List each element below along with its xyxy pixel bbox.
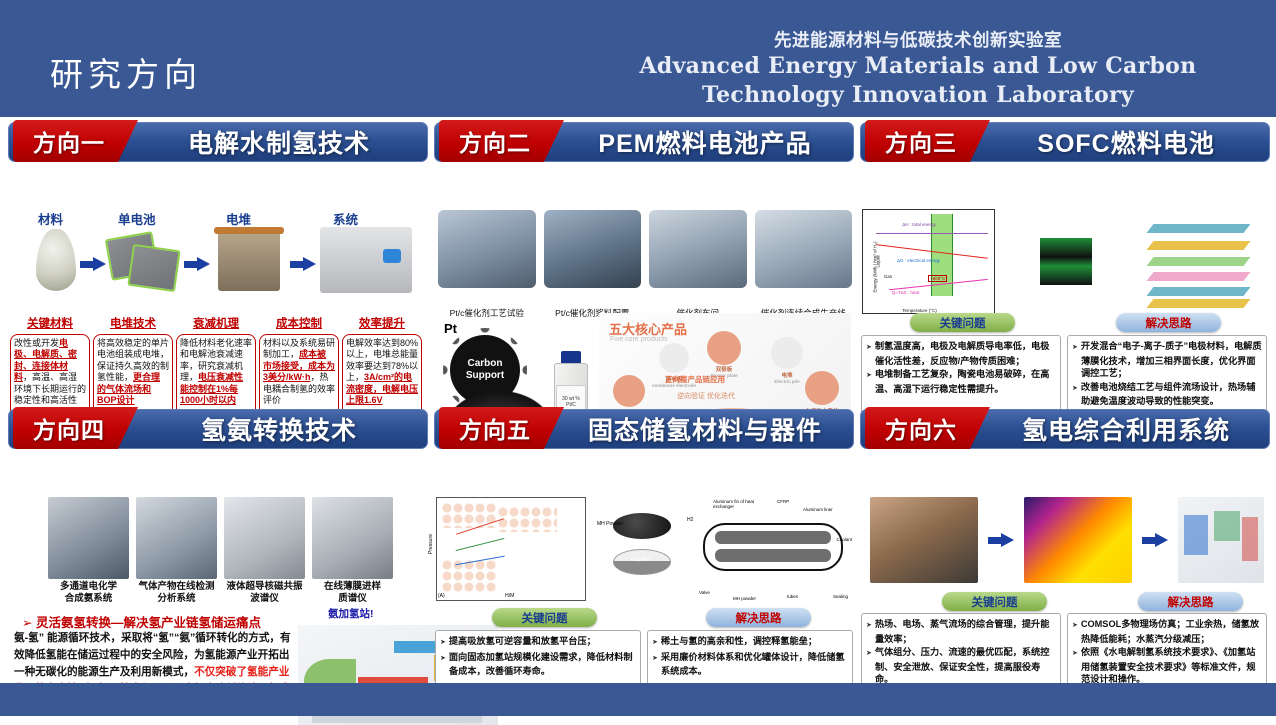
flow-label-material: 材料 <box>38 209 63 228</box>
tag-key-issues: 关键问题 <box>910 313 1015 332</box>
panel-4-headline: ➢ 灵活氨氢转换—解决氢产业链氢储运痛点 <box>22 612 261 631</box>
pct-isotherm-chart: Pressure H/M (A) <box>436 497 586 601</box>
photo-cell <box>438 210 536 306</box>
equipment-photo-row <box>48 497 393 579</box>
lab-photo-1 <box>438 210 536 288</box>
hydrogen-station-label: 氨加氢站! <box>328 606 374 621</box>
product-icon-power-system <box>805 371 839 405</box>
single-cell-plate-image-2 <box>127 244 180 292</box>
column-head: 效率提升 <box>342 315 422 331</box>
flow-arrow-2 <box>184 257 210 272</box>
photo-caption: 液体超导核磁共振 波谱仪 <box>224 581 305 605</box>
label-mh-powder: MH Powder <box>597 521 623 527</box>
sofc-figures: ΔH : total energy ΔG : electrical energy… <box>862 209 1268 314</box>
page-title: 研究方向 <box>50 48 202 96</box>
panel-direction-6: 方向六 氢电综合利用系统 关键问题 解决思路 热场、电场、蒸气流场的综合管理，提… <box>860 407 1270 682</box>
solution-item: 采用廉价材料体系和优化罐体设计，降低储氢系统成本。 <box>652 651 848 678</box>
panel-6-title: 氢电综合利用系统 <box>988 409 1264 449</box>
panel-1-ribbon: 方向一 电解水制氢技术 <box>8 120 428 163</box>
sofc-material-network-figure <box>1001 209 1132 314</box>
stack-layer-cathode <box>1147 241 1251 250</box>
panel-2-title: PEM燃料电池产品 <box>562 122 848 162</box>
network-center-cell <box>1040 238 1092 284</box>
product-icon-membrane <box>659 343 689 373</box>
flow-arrow-2 <box>1142 533 1168 548</box>
text-plain: 改性或开发 <box>14 338 59 348</box>
lab-photo-4 <box>755 210 853 288</box>
product-icon-bipolar <box>707 331 741 365</box>
lattice-atoms-bottomleft <box>441 559 497 593</box>
photo-caption: 气体产物在线检测 分析系统 <box>136 581 217 605</box>
solution-item: 改善电池烧结工艺与组件流场设计，热场辅助避免温度波动导致的性能突变。 <box>1072 381 1262 408</box>
panel-3-ribbon: 方向三 SOFC燃料电池 <box>860 120 1270 163</box>
chart-ylabel: Energy (kWh / Nm³ of H₂) <box>873 223 878 293</box>
panel-6-tags: 关键问题 解决思路 <box>860 592 1270 612</box>
stack-top-bar <box>214 227 284 234</box>
electrolysis-flow-diagram: 材料 单电池 电堆 系统 <box>8 209 428 314</box>
label-h2: H2 <box>687 517 693 523</box>
schematic-block-blue <box>1184 515 1208 555</box>
chart-series-label-Q: Q=TΔS : heat <box>892 290 919 295</box>
equipment-photo-2 <box>136 497 217 579</box>
flow-label-cell: 单电池 <box>118 209 156 228</box>
photo-cell <box>544 210 642 306</box>
solution-item: 稀土与氢的高亲和性，调控释氢能垒； <box>652 635 848 650</box>
stack-layer-interconnect-bottom <box>1147 287 1251 296</box>
pt-label: Pt <box>444 321 457 336</box>
panel-3-title: SOFC燃料电池 <box>988 122 1264 162</box>
thermal-imaging-photo <box>1024 497 1132 583</box>
stack-layer-electrolyte <box>1147 257 1251 266</box>
flow-arrow-1 <box>988 533 1014 548</box>
tag-solutions: 解决思路 <box>1116 313 1221 332</box>
panel-5-tags: 关键问题 解决思路 <box>434 608 854 628</box>
panel-4-ribbon: 方向四 氢氨转换技术 <box>8 407 428 450</box>
label-cfrp: CFRP <box>777 499 789 504</box>
flow-arrow-3 <box>290 257 316 272</box>
label-aluminum-liner: Aluminum liner <box>803 507 833 512</box>
label-gap-mh: Gap MH <box>631 557 650 563</box>
issue-item: 面向固态加氢站规模化建设需求，降低材料制备成本，改善循环寿命。 <box>440 651 636 678</box>
label-tubes: tubes <box>787 594 798 599</box>
label-coolant: Coolant <box>836 537 852 542</box>
equipment-photo-1 <box>48 497 129 579</box>
panel-direction-4: 方向四 氢氨转换技术 多通道电化学 合成氨系统 气体产物在线检测 分析系统 液体… <box>8 407 428 682</box>
chart-annotation-temp: ≈800°C <box>928 275 947 282</box>
panel-6-badge: 方向六 <box>865 407 977 449</box>
column-head: 成本控制 <box>259 315 339 331</box>
tank-tube-2 <box>715 549 831 562</box>
lattice-atoms-topright <box>497 506 557 532</box>
panel-3-badge: 方向三 <box>865 120 977 162</box>
stack-layer-interconnect-top <box>1147 224 1251 233</box>
photo-cell <box>755 210 853 306</box>
photo-cell <box>649 210 747 306</box>
flow-label-system: 系统 <box>333 209 358 228</box>
panel-2-ribbon: 方向二 PEM燃料电池产品 <box>434 120 854 163</box>
flow-arrow-1 <box>80 257 106 272</box>
sofc-energy-chart: ΔH : total energy ΔG : electrical energy… <box>862 209 995 314</box>
product-mid-label-1: 正向整产品链应用 <box>665 374 725 385</box>
slide-footer <box>0 683 1276 716</box>
figure-label-a: (A) <box>438 593 445 599</box>
electrolyzer-stack-image <box>218 231 280 291</box>
schematic-block-green <box>1214 511 1240 541</box>
slide-header: 研究方向 先进能源材料与低碳技术创新实验室 Advanced Energy Ma… <box>0 0 1276 117</box>
tag-key-issues: 关键问题 <box>492 608 597 627</box>
stack-layer-anode <box>1147 272 1251 281</box>
panel-1-badge: 方向一 <box>13 120 125 162</box>
column-head: 关键材料 <box>10 315 90 331</box>
lab-photo-2 <box>544 210 642 288</box>
lab-name-block: 先进能源材料与低碳技术创新实验室 Advanced Energy Materia… <box>598 28 1238 110</box>
tag-key-issues: 关键问题 <box>942 592 1047 611</box>
label-mh-powder-2: MH powder <box>733 596 756 601</box>
solution-item: 开发混合“电子-离子-质子”电极材料，电解质薄膜化技术，增加三相界面长度，优化界… <box>1072 340 1262 380</box>
tank-tube-1 <box>715 531 831 544</box>
label-en: Electric pile <box>765 379 809 384</box>
column-head: 衰减机理 <box>176 315 256 331</box>
photo-caption: 多通道电化学 合成氨系统 <box>48 581 129 605</box>
lab-name-en-line1: Advanced Energy Materials and Low Carbon <box>598 52 1238 81</box>
chart-series-label-dG: ΔG : electrical energy <box>897 258 940 263</box>
text-plain-2: ，高温、高湿环境下长期运行的稳定性和高活性 <box>14 372 86 405</box>
panel-direction-1: 方向一 电解水制氢技术 材料 单电池 电堆 系统 关键材料 改性或开发电极、电解… <box>8 120 428 403</box>
label-aluminum-fin: Aluminum fin of heat exchanger <box>713 499 769 509</box>
system-schematic-photo <box>1178 497 1264 583</box>
axis-label-hm: H/M <box>505 593 514 599</box>
panel-1-title: 电解水制氢技术 <box>136 122 422 162</box>
schematic-block-red <box>1242 517 1258 561</box>
issue-item: 热场、电场、蒸气流场的综合管理，提升能量效率； <box>866 618 1056 645</box>
equipment-photo-3 <box>224 497 305 579</box>
lab-name-cn: 先进能源材料与低碳技术创新实验室 <box>598 28 1238 52</box>
product-icon-stack <box>771 337 803 369</box>
panel-3-tags: 关键问题 解决思路 <box>860 313 1270 333</box>
equipment-photo-4 <box>312 497 393 579</box>
panel-5-ribbon: 方向五 固态储氢材料与器件 <box>434 407 854 450</box>
flow-label-stack: 电堆 <box>226 209 251 228</box>
label-valve: Valve <box>699 590 710 595</box>
mh-tank-diagram: H2 MH Powder Gap MH Aluminum fin of heat… <box>591 497 852 601</box>
photo-caption: Pt/c催化剂工艺试验 <box>438 308 536 318</box>
panel-5-title: 固态储氢材料与器件 <box>562 409 848 449</box>
product-mid-label-2: 逆向验证 优化迭代 <box>677 391 735 401</box>
axis-label-pressure: Pressure <box>428 534 434 554</box>
hydrogen-storage-figures: Pressure H/M (A) H2 MH Powder Gap MH Alu… <box>436 497 852 601</box>
equipment-photo-captions: 多通道电化学 合成氨系统 气体产物在线检测 分析系统 液体超导核磁共振 波谱仪 … <box>48 581 393 605</box>
product-icon-catalyst <box>613 375 645 407</box>
hydrogen-power-photo-row <box>866 497 1264 583</box>
lab-photo-3 <box>649 210 747 288</box>
solution-item: COMSOL多物理场仿真；工业余热，储氢放热降低能耗；水蒸汽分级减压； <box>1072 618 1262 645</box>
tag-solutions: 解决思路 <box>1138 592 1243 611</box>
product-title-en: Five core products <box>610 336 668 343</box>
lab-name-en-line2: Technology Innovation Laboratory <box>598 81 1238 110</box>
sofc-stack-exploded-figure <box>1137 209 1268 314</box>
panel-2-badge: 方向二 <box>439 120 551 162</box>
panel-5-badge: 方向五 <box>439 407 551 449</box>
tag-solutions: 解决思路 <box>706 608 811 627</box>
stack-hardware-photo <box>870 497 978 583</box>
pem-photo-row <box>438 210 852 306</box>
panel-direction-3: 方向三 SOFC燃料电池 ΔH : total energy ΔG : elec… <box>860 120 1270 403</box>
issue-item: 电堆制备工艺复杂，陶瓷电池易破碎，在高温、高湿下运行稳定性需提升。 <box>866 368 1056 395</box>
system-screen <box>383 249 401 263</box>
product-label-stack: 电堆Electric pile <box>765 371 809 384</box>
panel-direction-2: 方向二 PEM燃料电池产品 Pt/c催化剂工艺试验 Pt/c催化剂浆料配置 催化… <box>434 120 854 403</box>
label-sealing: Sealing <box>833 594 848 599</box>
material-powder-image <box>36 229 76 291</box>
chart-series-label-dH: ΔH : total energy <box>902 222 936 227</box>
issue-item: 提高吸放氢可逆容量和放氢平台压； <box>440 635 636 650</box>
isotherm-curve-green <box>456 538 505 551</box>
column-head: 电堆技术 <box>93 315 173 331</box>
panel-4-badge: 方向四 <box>13 407 125 449</box>
panel-6-ribbon: 方向六 氢电综合利用系统 <box>860 407 1270 450</box>
stack-layer-base <box>1147 299 1251 308</box>
photo-caption: 在线薄膜进样 质谱仪 <box>312 581 393 605</box>
solution-item: 依照《水电解制氢系统技术要求》、《加氢站用储氢装置安全技术要求》等标准文件，规范… <box>1072 646 1262 686</box>
chart-line-dH <box>876 233 988 234</box>
issue-item: 制氢温度高，电极及电解质导电率低，电极催化活性差，反应物/产物传质困难； <box>866 340 1056 367</box>
panel-direction-5: 方向五 固态储氢材料与器件 Pressure H/M (A) H2 <box>434 407 854 682</box>
panel-4-title: 氢氨转换技术 <box>136 409 422 449</box>
chart-annotation-gas: Gas <box>884 274 892 279</box>
issue-item: 气体组分、压力、流速的最优匹配，系统控制、安全泄放、保证安全性，提高服役寿命。 <box>866 646 1056 686</box>
